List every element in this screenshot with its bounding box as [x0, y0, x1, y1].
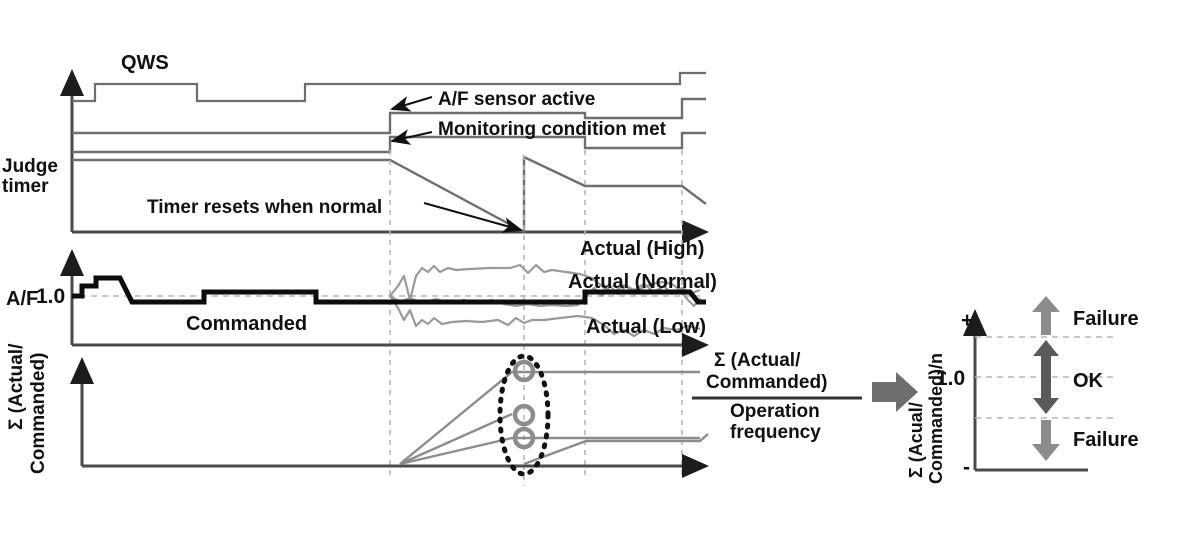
signal-qws-waveform	[72, 73, 706, 101]
result-zone-upper-label: Failure	[1073, 308, 1139, 330]
panel-af: A/F 1.0 Commanded Actual (High) Actual (…	[6, 238, 717, 345]
result-tick-plus: +	[961, 309, 973, 332]
timer-reset-label: Timer resets when normal	[147, 197, 382, 218]
formula-numerator-line1: Σ (Actual/	[714, 350, 801, 371]
commanded-label: Commanded	[186, 313, 307, 335]
result-zone-lower-label: Failure	[1073, 429, 1139, 451]
formula-denominator-line2: frequency	[730, 422, 821, 443]
result-tick-minus: -	[963, 456, 970, 479]
actual-normal-label: Actual (Normal)	[568, 271, 717, 293]
panel-sum: Σ (Actual/ Commanded)	[6, 343, 708, 474]
af-sensor-leader-arrow	[392, 97, 432, 109]
formula-numerator-line2: Commanded)	[706, 372, 827, 393]
monitoring-condition-label: Monitoring condition met	[438, 119, 667, 140]
timer-reset-leader-arrow	[424, 203, 521, 230]
signal-judge-timer-waveform	[72, 157, 706, 232]
actual-low-label: Actual (Low)	[586, 316, 706, 338]
qws-label: QWS	[121, 52, 169, 74]
panel-timing: QWS A/F sensor active Monitoring conditi…	[2, 52, 706, 486]
sum-axis-label-line2: Commanded)	[28, 353, 49, 474]
panel-result: + - 1.0 Failure OK Failure Σ (Acual/ Com…	[906, 296, 1139, 484]
diagram-canvas: QWS A/F sensor active Monitoring conditi…	[0, 0, 1200, 552]
judge-timer-axis-label-line2: timer	[2, 176, 49, 197]
figure-root: QWS A/F sensor active Monitoring conditi…	[0, 0, 1200, 552]
judge-timer-axis-label-line1: Judge	[2, 156, 58, 177]
arrow-down-failure-icon	[1032, 420, 1060, 461]
result-axis-label-line1: Σ (Acual/	[906, 402, 926, 478]
af-tick-1-0: 1.0	[36, 285, 65, 308]
af-axis-label: A/F	[6, 288, 38, 310]
sum-axis-label-line1: Σ (Actual/	[6, 343, 27, 430]
formula-block: Σ (Actual/ Commanded) Operation frequenc…	[692, 350, 862, 443]
formula-denominator-line1: Operation	[730, 401, 820, 422]
arrow-up-failure-icon	[1032, 296, 1060, 335]
af-sensor-active-label: A/F sensor active	[438, 89, 595, 110]
result-axis-label-line2: Commanded)/n	[926, 353, 946, 484]
result-zone-middle-label: OK	[1073, 370, 1104, 392]
sum-branch-normal	[400, 414, 512, 464]
actual-high-label: Actual (High)	[580, 238, 704, 260]
